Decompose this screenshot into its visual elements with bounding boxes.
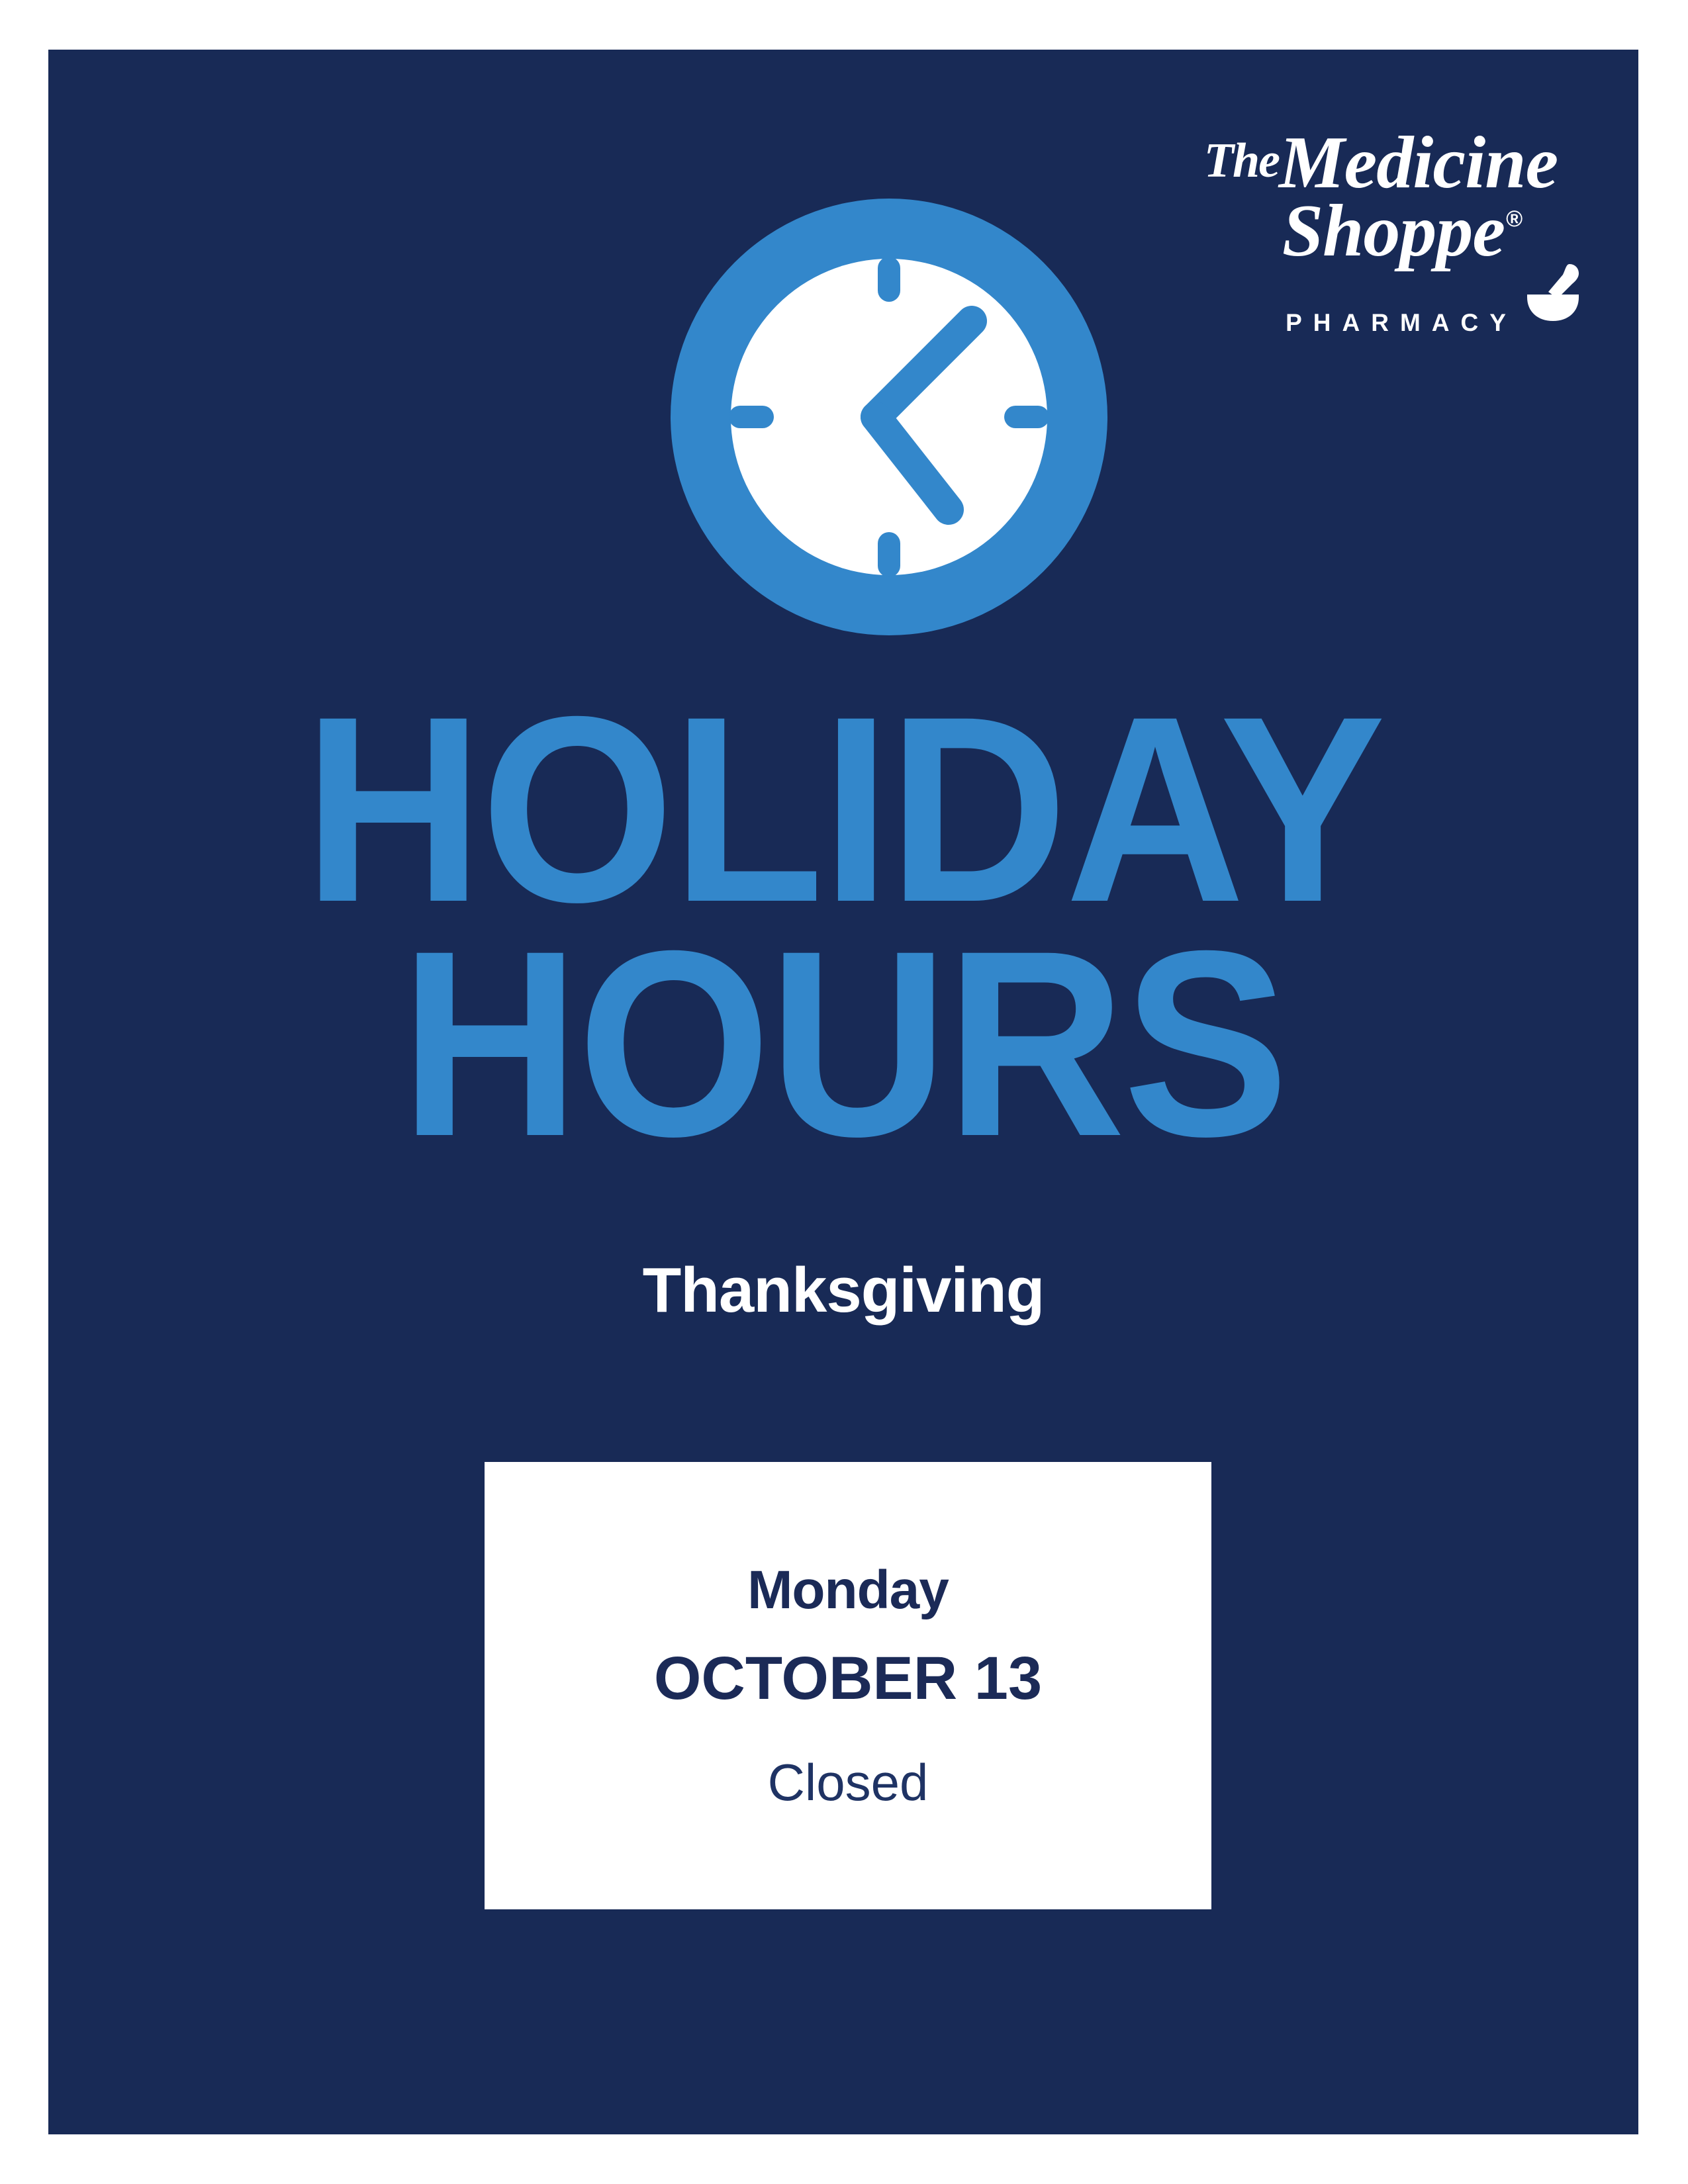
- brand-tagline: PHARMACY: [1174, 309, 1607, 337]
- hours-day: Monday: [747, 1563, 949, 1617]
- brand-logotype: TheMedicine Shoppe®: [1174, 129, 1584, 265]
- brand-line-one: TheMedicine: [1174, 129, 1584, 197]
- poster-panel: TheMedicine Shoppe® PHARMACY: [48, 50, 1638, 2134]
- hours-info-card: Monday OCTOBER 13 Closed: [485, 1462, 1211, 1909]
- clock-icon: [671, 199, 1107, 635]
- headline-line-two: HOURS: [96, 933, 1591, 1155]
- registered-mark: ®: [1506, 206, 1522, 232]
- occasion-label: Thanksgiving: [48, 1254, 1638, 1327]
- poster-page: TheMedicine Shoppe® PHARMACY: [0, 0, 1688, 2184]
- hours-date: OCTOBER 13: [654, 1648, 1042, 1709]
- page-title: HOLIDAY HOURS: [48, 698, 1638, 1155]
- hours-status: Closed: [768, 1756, 929, 1808]
- brand-shoppe-text: Shoppe: [1282, 190, 1505, 272]
- brand-the-text: The: [1204, 134, 1279, 188]
- headline-line-one: HOLIDAY: [96, 698, 1591, 921]
- brand-line-two: Shoppe®: [1174, 197, 1584, 265]
- brand-logo: TheMedicine Shoppe® PHARMACY: [1174, 129, 1584, 361]
